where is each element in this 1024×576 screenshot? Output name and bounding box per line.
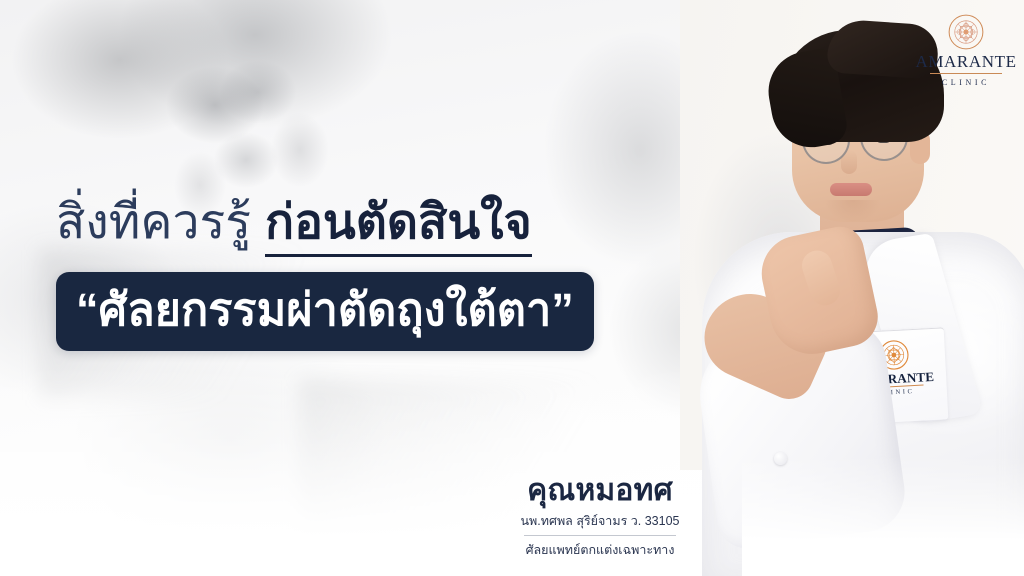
caption-divider	[524, 535, 676, 536]
brand-logo[interactable]: AMARANTE CLINIC	[918, 14, 1014, 90]
doctor-name: คุณหมอทศ	[470, 474, 730, 508]
brand-subtext: CLINIC	[942, 78, 990, 87]
mandala-emblem-icon	[948, 14, 984, 50]
headline-bold-text: ก่อนตัดสินใจ	[265, 196, 532, 257]
doctor-caption: คุณหมอทศ นพ.ทศพล สุริย์จามร ว. 33105 ศัล…	[470, 474, 730, 558]
title-badge-text: “ศัลยกรรมผ่าตัดถุงใต้ตา”	[76, 285, 574, 335]
poster-canvas: AMARANTE CLINIC	[0, 0, 1024, 576]
doctor-credential: นพ.ทศพล สุริย์จามร ว. 33105	[470, 513, 730, 529]
title-badge: “ศัลยกรรมผ่าตัดถุงใต้ตา”	[56, 272, 594, 351]
headline-line-1: สิ่งที่ควรรู้ ก่อนตัดสินใจ	[56, 196, 594, 257]
headline-block: สิ่งที่ควรรู้ ก่อนตัดสินใจ “ศัลยกรรมผ่าต…	[56, 196, 594, 351]
panel-bottom-fade	[742, 456, 1024, 576]
brand-wordmark: AMARANTE	[915, 53, 1016, 70]
doctor-chin-shade	[825, 200, 881, 222]
brand-rule	[930, 73, 1002, 74]
doctor-specialty: ศัลยแพทย์ตกแต่งเฉพาะทาง	[470, 542, 730, 558]
headline-light-text: สิ่งที่ควรรู้	[56, 196, 251, 250]
doctor-lips	[830, 183, 872, 196]
